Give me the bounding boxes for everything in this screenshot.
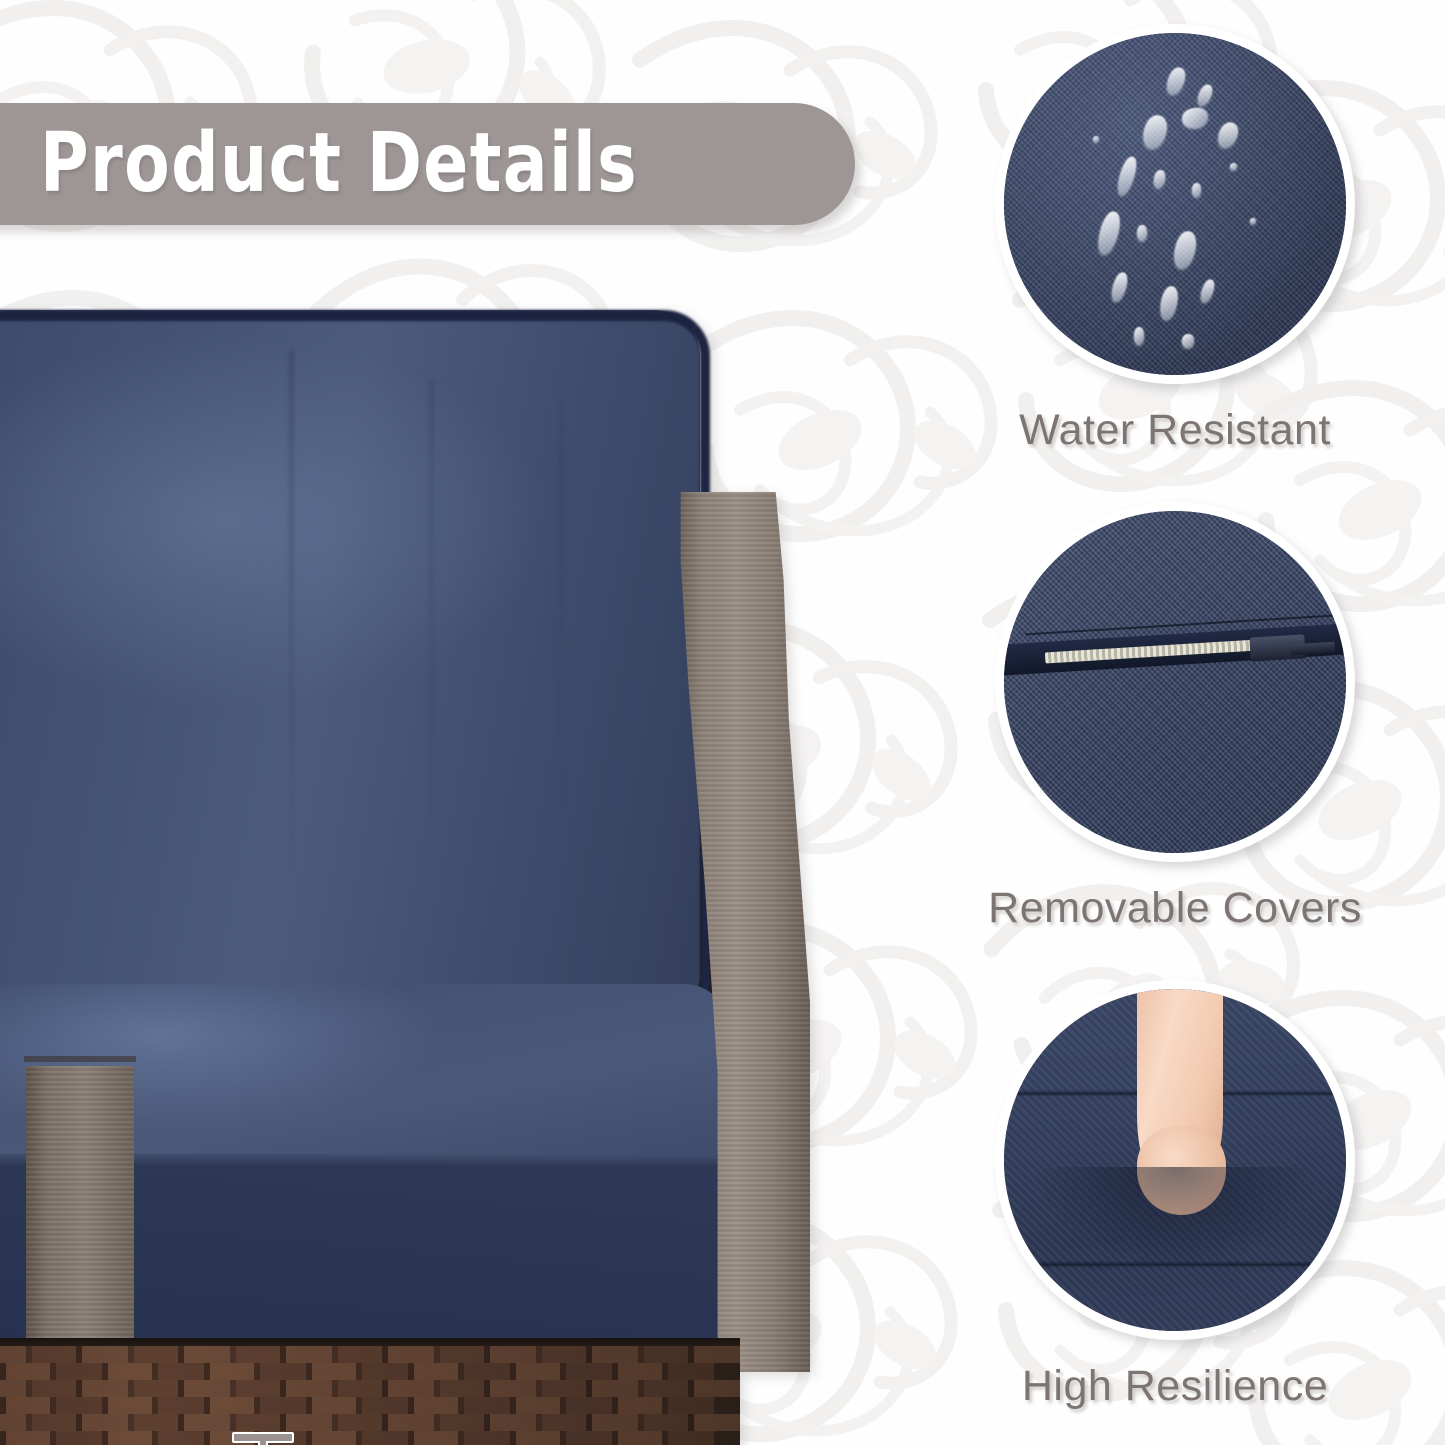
feature-label: Water Resistant: [905, 406, 1445, 455]
zipper-icon: [995, 502, 1355, 862]
feature-label: Removable Covers: [905, 884, 1445, 933]
armrest: [678, 492, 810, 1372]
product-photo: 4": [0, 296, 880, 1445]
armrest-front-post: [26, 1066, 134, 1372]
dimension-label: 4": [310, 1438, 454, 1445]
feature-high-resilience: High Resilience: [905, 980, 1445, 1411]
feature-label: High Resilience: [905, 1362, 1445, 1411]
page-title: Product Details: [40, 123, 638, 205]
back-cushion: [0, 310, 700, 1010]
i-beam-dimension-icon: [232, 1432, 294, 1445]
feature-callout-list: Water Resistant Removable Covers: [905, 0, 1445, 1445]
water-droplets-on-fabric-icon: [995, 24, 1355, 384]
armrest-front-edge: [24, 1056, 136, 1062]
page-title-banner: Product Details: [0, 103, 855, 225]
feature-water-resistant: Water Resistant: [905, 24, 1445, 455]
fist-pressing-cushion-icon: [995, 980, 1355, 1340]
product-details-infographic: Product Details: [0, 0, 1445, 1445]
product-photo-cutout: [0, 296, 880, 1445]
feature-removable-covers: Removable Covers: [905, 502, 1445, 933]
